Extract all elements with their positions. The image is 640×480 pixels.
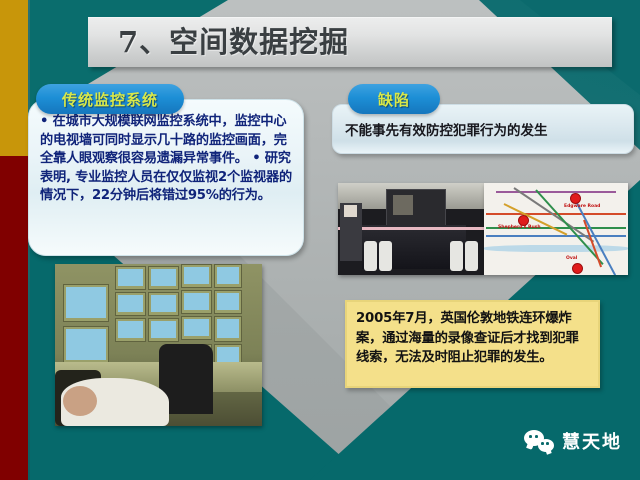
label-defect-text: 缺陷 bbox=[378, 89, 410, 110]
scene-cylinder-1 bbox=[364, 241, 377, 271]
slide-canvas: 7、空间数据挖掘 • 在城市大规模联网监控系统中，监控中心的电视墙可同时显示几十… bbox=[0, 0, 640, 480]
photo-control-room bbox=[55, 264, 262, 426]
left-edge-red-band bbox=[0, 156, 28, 480]
label-traditional-surveillance: 传统监控系统 bbox=[36, 84, 184, 114]
left-edge-gold-band bbox=[0, 0, 28, 156]
map-marker-label-2: Shepherd's Bush bbox=[498, 225, 541, 230]
wechat-icon bbox=[524, 430, 554, 452]
london-bombing-note-text: 2005年7月，英国伦敦地铁连环爆炸案，通过海量的录像查证后才找到犯罪线索，无法… bbox=[356, 309, 589, 368]
map-marker-label-3: Oval bbox=[566, 256, 577, 261]
label-traditional-surveillance-text: 传统监控系统 bbox=[62, 89, 158, 110]
page-title: 7、空间数据挖掘 bbox=[118, 28, 349, 57]
control-room-operator-head bbox=[63, 386, 97, 416]
watermark-text: 慧天地 bbox=[562, 428, 622, 454]
photo-underground-map: Edgware Road Shepherd's Bush Oval bbox=[484, 183, 628, 275]
scene-cylinder-2 bbox=[379, 241, 392, 271]
traditional-surveillance-body: • 在城市大规模联网监控系统中，监控中心的电视墙可同时显示几十路的监控画面，完全… bbox=[40, 113, 292, 206]
watermark: 慧天地 bbox=[524, 428, 622, 454]
label-defect: 缺陷 bbox=[348, 84, 440, 114]
map-marker-oval bbox=[572, 263, 583, 274]
scene-cylinder-3 bbox=[450, 241, 463, 271]
wechat-bubble-small bbox=[538, 439, 554, 452]
london-bombing-note: 2005年7月，英国伦敦地铁连环爆炸案，通过海量的录像查证后才找到犯罪线索，无法… bbox=[345, 300, 600, 388]
scene-cylinder-4 bbox=[465, 241, 478, 271]
defect-body: 不能事先有效防控犯罪行为的发生 bbox=[345, 119, 548, 139]
map-marker-label-1: Edgware Road bbox=[564, 204, 600, 209]
scene-officer bbox=[340, 203, 362, 261]
traditional-surveillance-text-box: • 在城市大规模联网监控系统中，监控中心的电视墙可同时显示几十路的监控画面，完全… bbox=[28, 99, 304, 256]
map-line-piccadilly bbox=[486, 235, 626, 237]
photo-bombing-scene bbox=[338, 183, 484, 275]
map-line-metropolitan bbox=[496, 191, 616, 193]
map-river bbox=[484, 245, 628, 252]
slide-title-bar: 7、空间数据挖掘 bbox=[88, 17, 612, 67]
map-marker-edgware-road bbox=[570, 193, 581, 204]
